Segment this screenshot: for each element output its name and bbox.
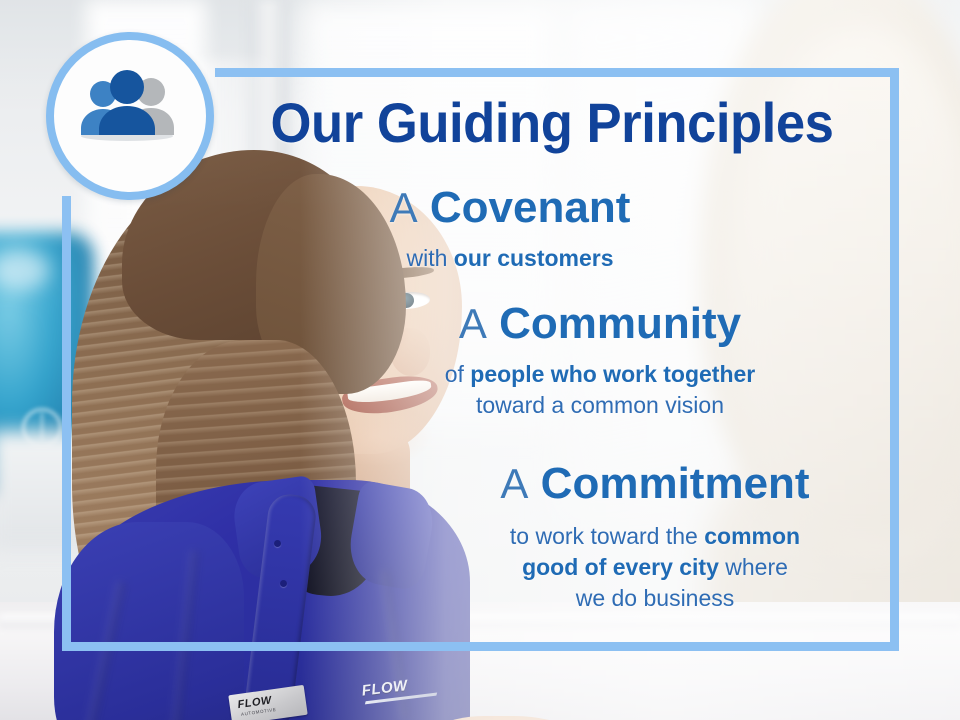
- principle-commitment: A Commitment to work toward the common g…: [420, 462, 890, 614]
- subtext-plain: we do business: [576, 585, 735, 611]
- subtext-plain: with: [406, 245, 453, 271]
- people-group-icon: [72, 70, 182, 142]
- principle-article: A: [500, 460, 528, 507]
- polo-button: [274, 540, 281, 547]
- subtext-plain: toward a common vision: [476, 392, 724, 418]
- principle-lead: A Covenant: [300, 186, 720, 231]
- principle-article: A: [459, 300, 487, 347]
- people-badge-circle: [46, 32, 214, 200]
- subtext-bold: people who work together: [470, 361, 755, 387]
- principle-subtext: with our customers: [300, 243, 720, 274]
- principle-keyword: Community: [499, 299, 741, 348]
- polo-sleeve: [54, 522, 244, 720]
- principle-subtext: to work toward the common good of every …: [420, 521, 890, 614]
- subtext-plain: to work toward the: [510, 523, 704, 549]
- guiding-principles-graphic: FLOW AUTOMOTIVE FLOW: [0, 0, 960, 720]
- subtext-bold: good of every city: [522, 554, 719, 580]
- principle-keyword: Covenant: [430, 183, 630, 232]
- polo-button: [280, 580, 287, 587]
- page-title: Our Guiding Principles: [232, 90, 871, 155]
- principle-lead: A Community: [360, 302, 840, 347]
- principle-community: A Community of people who work together …: [360, 302, 840, 421]
- principle-lead: A Commitment: [420, 462, 890, 507]
- subtext-plain: where: [719, 554, 788, 580]
- principle-keyword: Commitment: [541, 459, 810, 508]
- frame-border-right: [890, 68, 899, 651]
- principle-covenant: A Covenant with our customers: [300, 186, 720, 274]
- subtext-plain: of: [445, 361, 471, 387]
- frame-border-top: [215, 68, 899, 77]
- subtext-bold: our customers: [454, 245, 614, 271]
- principle-article: A: [390, 184, 418, 231]
- principle-subtext: of people who work together toward a com…: [360, 359, 840, 421]
- subtext-bold: common: [704, 523, 800, 549]
- frame-border-left: [62, 196, 71, 651]
- frame-border-bottom: [62, 642, 899, 651]
